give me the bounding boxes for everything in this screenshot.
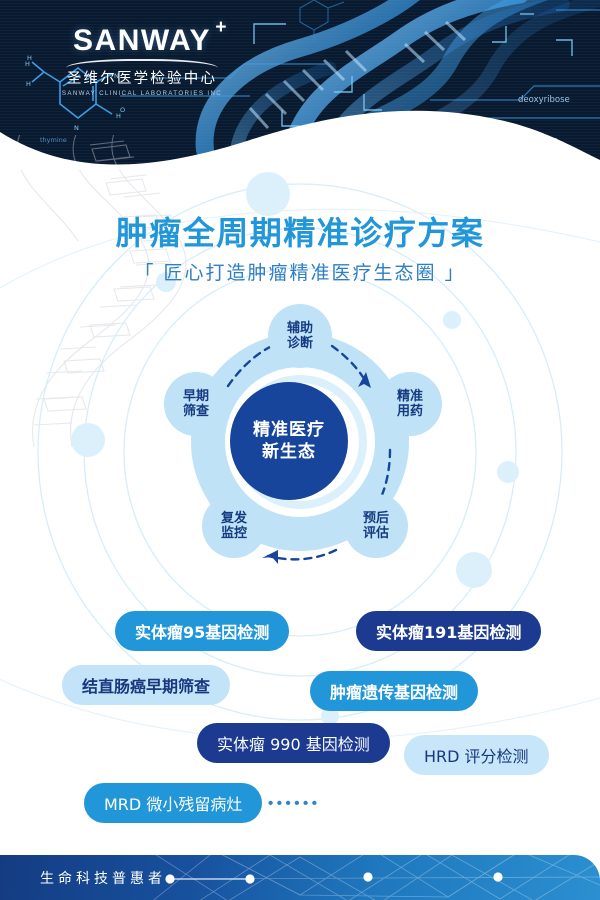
product-pill-solid-tumor-95[interactable]: 实体瘤95基因检测 bbox=[115, 611, 289, 651]
logo-swoosh-divider bbox=[66, 59, 218, 68]
header-banner: H H H N H N O deoxyribose guanine thymin… bbox=[0, 0, 600, 170]
brand-logo: SANWAY + 圣维尔医学检验中心 SANWAY CLINICAL LABOR… bbox=[52, 26, 232, 97]
orbit-dot bbox=[456, 552, 492, 588]
footer-slogan: 生命科技普惠者 bbox=[40, 855, 166, 900]
medical-cross-icon: + bbox=[215, 18, 228, 37]
logo-english-name: SANWAY CLINICAL LABORATORIES INC bbox=[52, 90, 232, 97]
header-wave-divider bbox=[0, 98, 600, 170]
poster-root: H H H N H N O deoxyribose guanine thymin… bbox=[0, 0, 600, 900]
product-pill-mrd[interactable]: MRD 微小残留病灶 bbox=[84, 783, 262, 823]
flow-arrow-path bbox=[268, 550, 336, 559]
node-label-line-2: 评估 bbox=[363, 526, 389, 541]
product-pill-solid-tumor-990[interactable]: 实体瘤 990 基因检测 bbox=[197, 723, 390, 763]
diagram-node-early-screening[interactable]: 早期 筛查 bbox=[164, 372, 228, 436]
svg-text:H: H bbox=[25, 60, 30, 68]
node-label-line-2: 筛查 bbox=[183, 404, 209, 419]
node-label-line-2: 监控 bbox=[221, 526, 247, 541]
diagram-node-assisted-diagnosis[interactable]: 辅助 诊断 bbox=[268, 304, 332, 368]
node-label-line-2: 用药 bbox=[397, 404, 423, 419]
product-pill-tumor-hereditary-gene[interactable]: 肿瘤遗传基因检测 bbox=[310, 671, 478, 711]
logo-chinese-name: 圣维尔医学检验中心 bbox=[52, 70, 232, 88]
node-label-line-1: 辅助 bbox=[287, 321, 313, 336]
page-title: 肿瘤全周期精准诊疗方案 bbox=[0, 208, 600, 254]
product-pill-hrd-score[interactable]: HRD 评分检测 bbox=[404, 735, 549, 775]
node-label-line-1: 精准 bbox=[397, 389, 423, 404]
more-items-ellipsis: •••••• bbox=[268, 795, 321, 812]
svg-text:H: H bbox=[26, 80, 31, 88]
node-label-line-2: 诊断 bbox=[287, 336, 313, 351]
logo-wordmark: SANWAY + bbox=[73, 26, 211, 56]
diagram-node-prognosis-evaluation[interactable]: 预后 评估 bbox=[344, 494, 408, 558]
product-pill-colorectal-early-screening[interactable]: 结直肠癌早期筛查 bbox=[62, 665, 230, 705]
product-pill-solid-tumor-191[interactable]: 实体瘤191基因检测 bbox=[356, 611, 541, 651]
core-line-2: 新生态 bbox=[253, 441, 325, 463]
orbit-dot bbox=[71, 423, 105, 457]
node-label-line-1: 早期 bbox=[183, 389, 209, 404]
logo-wordmark-text: SANWAY bbox=[73, 24, 211, 57]
diagram-node-precision-medication[interactable]: 精准 用药 bbox=[378, 372, 442, 436]
node-label-line-1: 复发 bbox=[221, 511, 247, 526]
page-subtitle: 「 匠心打造肿瘤精准医疗生态圈 」 bbox=[0, 258, 600, 285]
core-line-1: 精准医疗 bbox=[253, 419, 325, 441]
diagram-core: 精准医疗 新生态 bbox=[230, 382, 348, 500]
orbit-dot bbox=[497, 461, 519, 483]
node-label-line-1: 预后 bbox=[363, 511, 389, 526]
ecosystem-diagram: 精准医疗 新生态 辅助 诊断 精准 用药 预后 评估 复发 监 bbox=[150, 300, 450, 592]
footer-bar: 生命科技普惠者 bbox=[0, 855, 600, 900]
diagram-node-recurrence-monitoring[interactable]: 复发 监控 bbox=[202, 494, 266, 558]
